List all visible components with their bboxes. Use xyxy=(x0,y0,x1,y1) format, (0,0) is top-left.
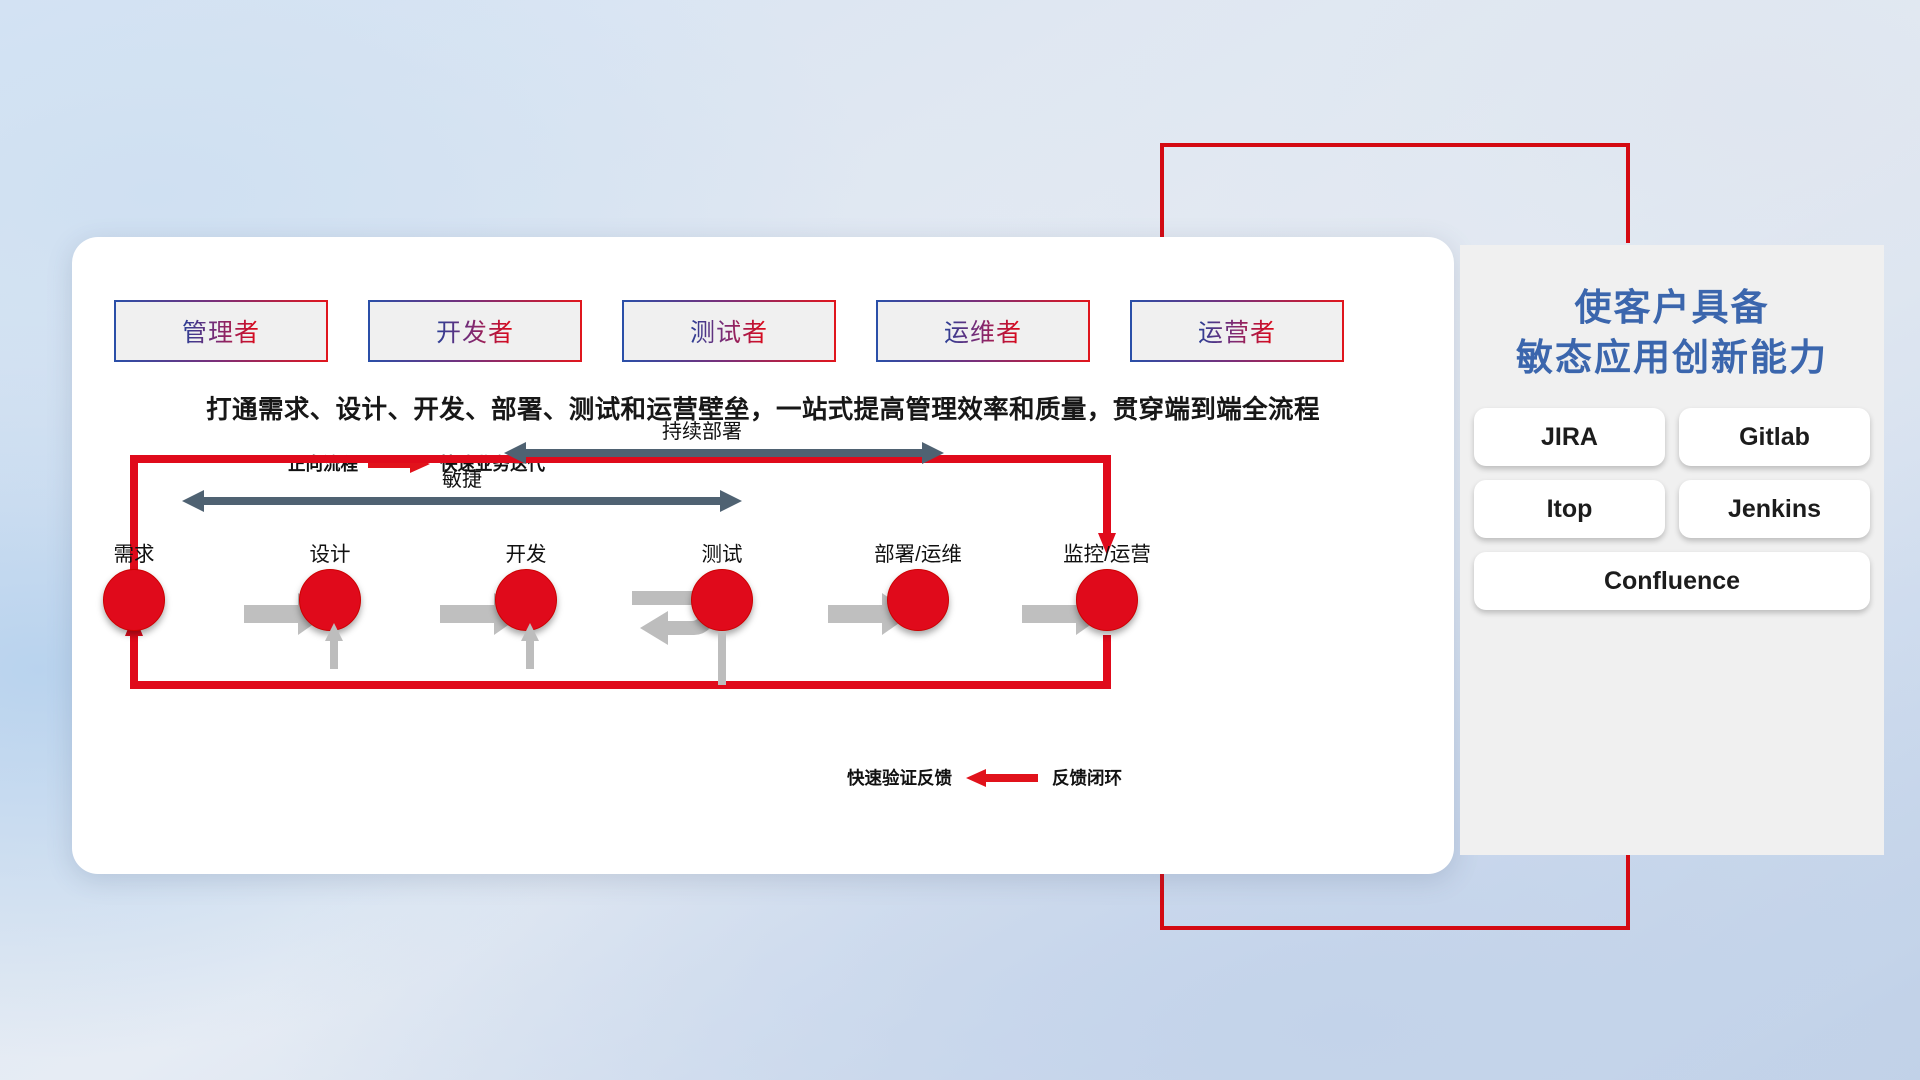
pipeline-row: 需求 设计 开发 测试 部署/运维 监控/运营 xyxy=(72,537,1454,697)
role-label: 测试者 xyxy=(690,313,768,349)
role-label: 开发者 xyxy=(436,313,514,349)
role-chip[interactable]: 开发者 xyxy=(368,300,582,362)
role-chip[interactable]: 管理者 xyxy=(114,300,328,362)
tool-badge-list: JIRA Gitlab Itop Jenkins Confluence xyxy=(1474,408,1870,610)
headline-text: 打通需求、设计、开发、部署、测试和运营壁垒，一站式提高管理效率和质量，贯穿端到端… xyxy=(72,389,1454,426)
span-label-agile: 敏捷 xyxy=(442,463,482,492)
role-chip[interactable]: 测试者 xyxy=(622,300,836,362)
panel-title-line2: 敏态应用创新能力 xyxy=(1460,333,1884,383)
role-chip-row: 管理者 开发者 测试者 运维者 运营者 xyxy=(114,300,1344,362)
role-label: 运营者 xyxy=(1198,313,1276,349)
legend-feedback-right-label: 反馈闭环 xyxy=(1052,765,1122,790)
tool-badge[interactable]: Gitlab xyxy=(1679,408,1870,466)
panel-title-line1: 使客户具备 xyxy=(1460,283,1884,333)
tool-badge[interactable]: Jenkins xyxy=(1679,480,1870,538)
role-chip[interactable]: 运维者 xyxy=(876,300,1090,362)
legend-feedback-left-label: 快速验证反馈 xyxy=(847,765,952,790)
legend-forward-left-label: 正向流程 xyxy=(288,451,358,476)
span-label-continuous-deployment: 持续部署 xyxy=(662,415,742,444)
tool-badge[interactable]: JIRA xyxy=(1474,408,1665,466)
red-bracket-top xyxy=(1160,143,1630,243)
role-label: 运维者 xyxy=(944,313,1022,349)
arrow-double-continuous-deployment-icon xyxy=(504,442,944,464)
main-card: 管理者 开发者 测试者 运维者 运营者 打通需求、设计、开发、部署、测试和运营壁… xyxy=(72,237,1454,874)
slide-canvas: 管理者 开发者 测试者 运维者 运营者 打通需求、设计、开发、部署、测试和运营壁… xyxy=(0,0,1920,1080)
arrow-double-agile-icon xyxy=(182,490,742,512)
arrow-left-red-icon xyxy=(966,769,1038,787)
arrow-right-red-icon xyxy=(368,455,430,473)
role-chip[interactable]: 运营者 xyxy=(1130,300,1344,362)
right-panel: 使客户具备 敏态应用创新能力 JIRA Gitlab Itop Jenkins … xyxy=(1460,245,1884,855)
legend-feedback-loop: 快速验证反馈 反馈闭环 xyxy=(847,765,1122,790)
tool-badge[interactable]: Itop xyxy=(1474,480,1665,538)
stage-connector-stubs xyxy=(72,537,1454,697)
tool-badge[interactable]: Confluence xyxy=(1474,552,1870,610)
role-label: 管理者 xyxy=(182,313,260,349)
